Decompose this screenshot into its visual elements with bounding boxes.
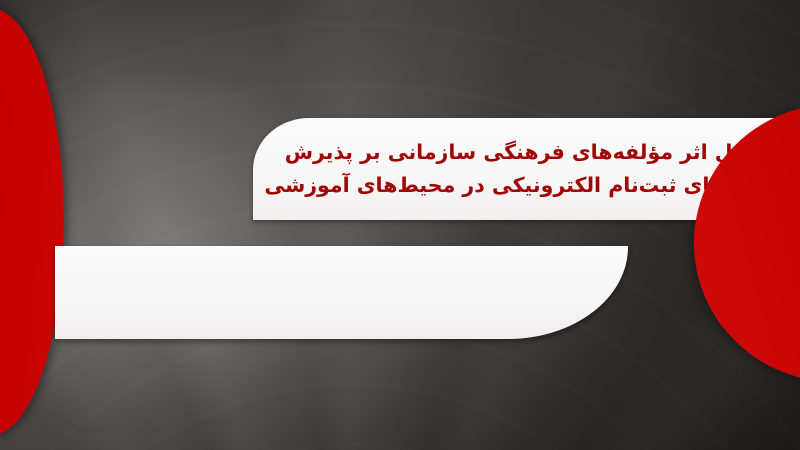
subtitle-panel[interactable] (55, 246, 628, 339)
title-panel[interactable]: تحلیل اثر مؤلفه‌های فرهنگی سازمانی بر پذ… (253, 118, 800, 220)
background-vignette (0, 0, 800, 450)
title-line-1: تحلیل اثر مؤلفه‌های فرهنگی سازمانی بر پذ… (285, 136, 773, 169)
title-text-block: تحلیل اثر مؤلفه‌های فرهنگی سازمانی بر پذ… (253, 118, 800, 220)
title-line-2: سامانه‌های ثبت‌نام الکترونیکی در محیط‌ها… (264, 169, 792, 202)
title-slide: تحلیل اثر مؤلفه‌های فرهنگی سازمانی بر پذ… (0, 0, 800, 450)
subtitle-text (55, 246, 628, 339)
